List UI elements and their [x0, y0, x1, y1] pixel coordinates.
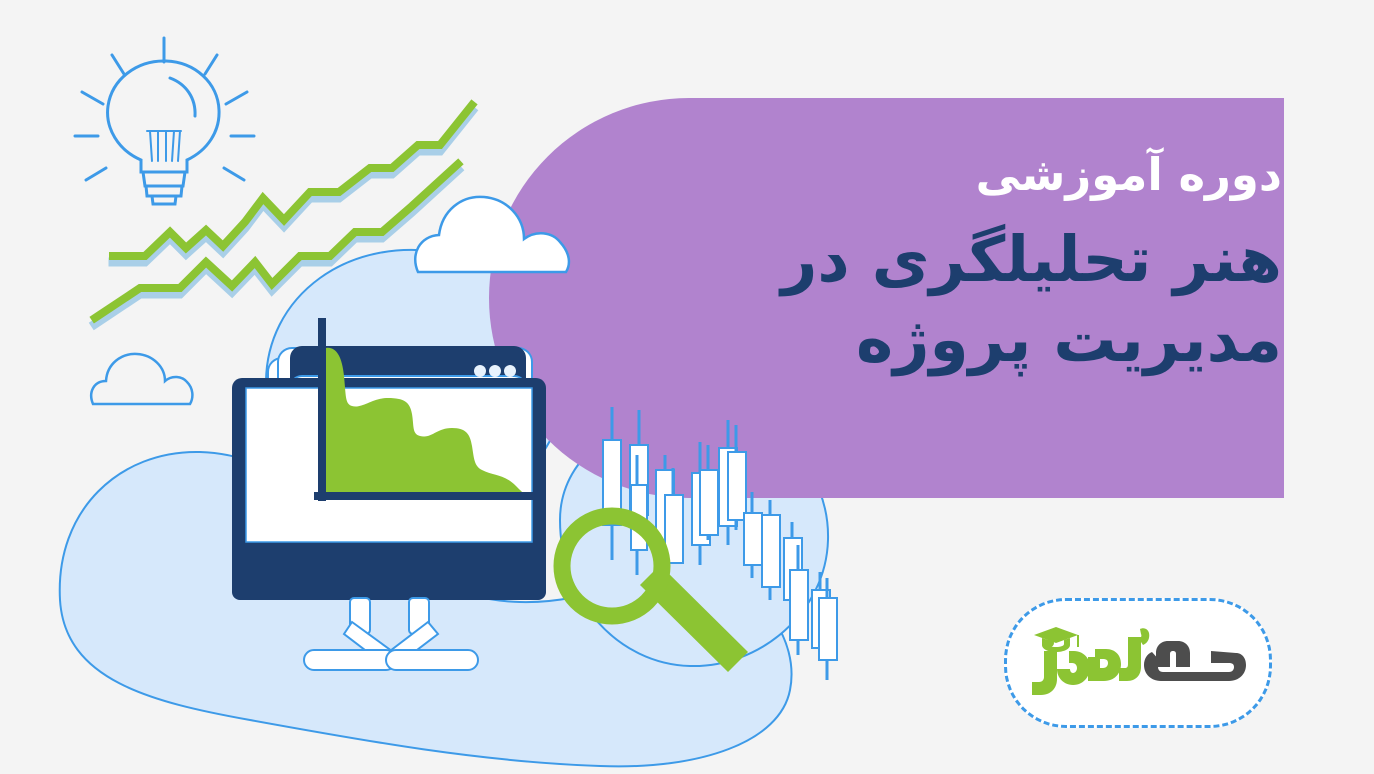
kicker-text: دوره آموزشی [662, 150, 1282, 200]
window-dot [474, 365, 486, 377]
window-dot [489, 365, 501, 377]
hamamooz-logo-badge[interactable] [1004, 598, 1272, 728]
title-line-2: مدیریت پروژه [662, 300, 1282, 381]
logo-text-green [1032, 627, 1149, 695]
monitor-stand [304, 598, 478, 670]
title-line-1: هنر تحلیلگری در [662, 220, 1282, 301]
hamamooz-logo [1028, 619, 1248, 707]
magnifier-icon [562, 516, 748, 672]
headline-block: دوره آموزشی هنر تحلیلگری در مدیریت پروژه [662, 150, 1282, 381]
banner-canvas: دوره آموزشی هنر تحلیلگری در مدیریت پروژه [0, 0, 1374, 774]
logo-text-dark [1144, 641, 1246, 681]
graduation-cap-icon [1034, 627, 1079, 652]
window-dot [504, 365, 516, 377]
